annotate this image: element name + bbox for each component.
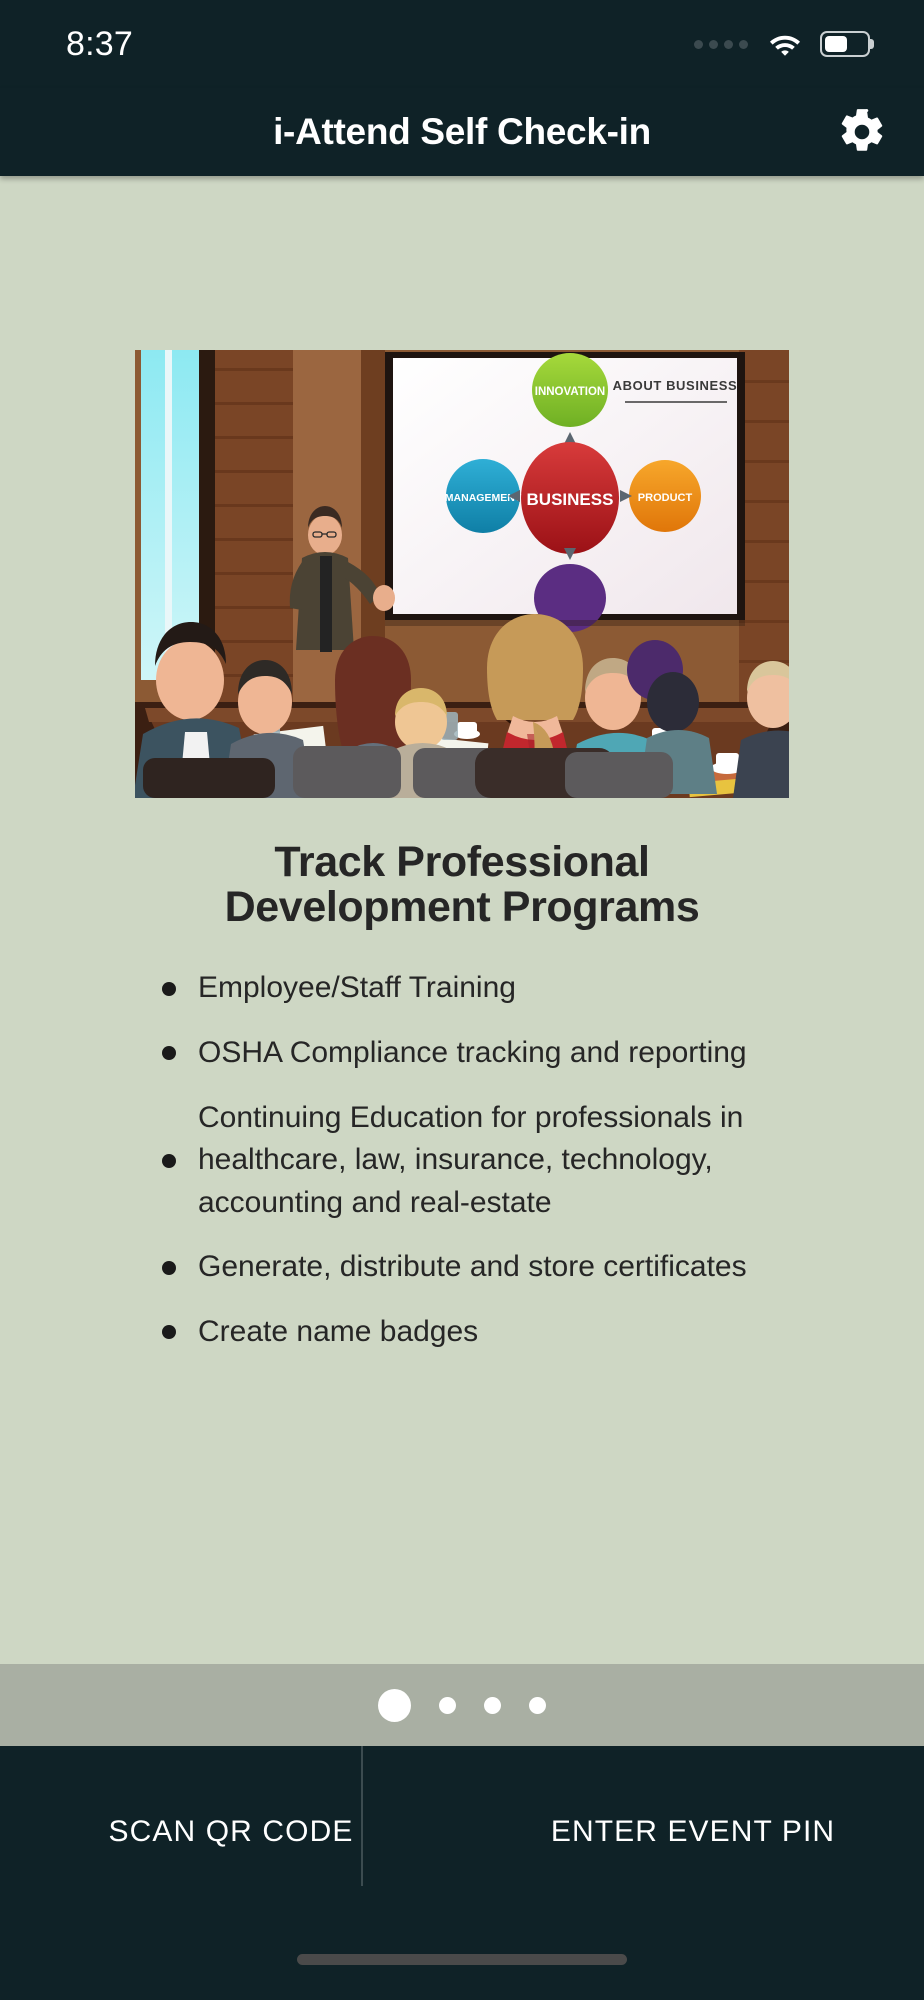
svg-text:INNOVATION: INNOVATION — [535, 386, 606, 398]
bottom-action-bar: SCAN QR CODE ENTER EVENT PIN — [0, 1746, 924, 1918]
page-dot-4[interactable] — [529, 1697, 546, 1714]
list-item: OSHA Compliance tracking and reporting — [162, 1032, 782, 1075]
action-divider — [361, 1746, 363, 1886]
status-indicators — [694, 31, 870, 57]
battery-icon — [820, 31, 870, 57]
bullet-dot-icon — [162, 1046, 176, 1060]
wifi-icon — [768, 31, 802, 57]
page-dot-2[interactable] — [439, 1697, 456, 1714]
bullet-dot-icon — [162, 1154, 176, 1168]
list-item: Generate, distribute and store certifica… — [162, 1246, 782, 1289]
list-item-label: OSHA Compliance tracking and reporting — [198, 1032, 747, 1075]
signal-dots-icon — [694, 40, 748, 49]
feature-list: Employee/Staff Training OSHA Compliance … — [142, 967, 782, 1375]
svg-text:PRODUCT: PRODUCT — [638, 492, 693, 504]
page-title: i-Attend Self Check-in — [273, 111, 651, 153]
status-clock: 8:37 — [66, 25, 133, 64]
list-item: Employee/Staff Training — [162, 967, 782, 1010]
app-root: 8:37 i-Attend Self Check-in — [0, 0, 924, 2000]
home-indicator-bar — [0, 1918, 924, 2000]
list-item-label: Continuing Education for professionals i… — [198, 1097, 782, 1225]
bullet-dot-icon — [162, 982, 176, 996]
list-item-label: Employee/Staff Training — [198, 967, 516, 1010]
home-indicator[interactable] — [297, 1954, 627, 1965]
svg-text:ABOUT BUSINESS: ABOUT BUSINESS — [613, 378, 738, 393]
list-item-label: Generate, distribute and store certifica… — [198, 1246, 747, 1289]
app-bar: i-Attend Self Check-in — [0, 88, 924, 176]
svg-text:BUSINESS: BUSINESS — [527, 490, 614, 509]
slide-title: Track Professional Development Programs — [142, 840, 782, 929]
list-item: Continuing Education for professionals i… — [162, 1097, 782, 1225]
gear-icon[interactable] — [834, 104, 890, 160]
enter-event-pin-button[interactable]: ENTER EVENT PIN — [462, 1746, 924, 1918]
scan-qr-code-button[interactable]: SCAN QR CODE — [0, 1746, 462, 1918]
bullet-dot-icon — [162, 1261, 176, 1275]
page-dot-1[interactable] — [378, 1689, 411, 1722]
list-item-label: Create name badges — [198, 1311, 478, 1354]
status-bar: 8:37 — [0, 0, 924, 88]
page-indicator — [0, 1664, 924, 1746]
onboarding-slide: ABOUT BUSINESS INNOVATION BUSINESS MANAG… — [0, 176, 924, 1664]
page-dot-3[interactable] — [484, 1697, 501, 1714]
slide-illustration: ABOUT BUSINESS INNOVATION BUSINESS MANAG… — [135, 350, 789, 798]
list-item: Create name badges — [162, 1311, 782, 1354]
bullet-dot-icon — [162, 1325, 176, 1339]
svg-text:MANAGEMENT: MANAGEMENT — [445, 492, 522, 504]
